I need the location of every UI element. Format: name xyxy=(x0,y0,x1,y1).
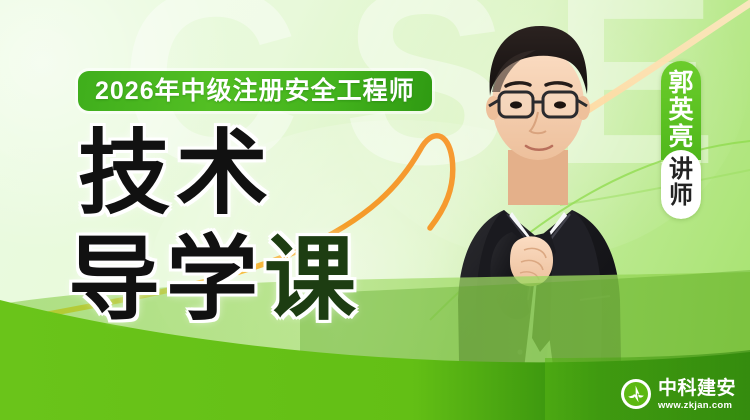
instructor-name: 郭 英 亮 xyxy=(661,61,701,160)
instructor-name-char-1: 郭 xyxy=(668,70,693,97)
headline: 技术 导学课 xyxy=(68,128,428,326)
headline-line-2: 导学课 xyxy=(68,234,428,326)
brand-name: 中科建安 xyxy=(658,379,736,398)
instructor-role-char-2: 师 xyxy=(669,183,693,209)
course-title-badge[interactable]: 2026年中级注册安全工程师 xyxy=(78,71,432,111)
headline-line-1: 技术 xyxy=(78,128,428,220)
brand-logo[interactable]: 中科建安 www.zkjan.com xyxy=(621,379,736,411)
headline-line-2-accent: 课 xyxy=(264,229,362,331)
brand-url: www.zkjan.com xyxy=(658,401,736,411)
course-title-badge-label: 2026年中级注册安全工程师 xyxy=(95,79,415,104)
instructor-name-badge[interactable]: 郭 英 亮 讲 师 xyxy=(661,61,701,219)
instructor-role-char-1: 讲 xyxy=(669,157,693,183)
course-promo-banner: CSE xyxy=(0,0,750,420)
headline-line-2-text: 导学 xyxy=(68,229,264,331)
instructor-name-char-3: 亮 xyxy=(668,124,693,151)
instructor-name-char-2: 英 xyxy=(668,97,693,124)
mountain-arrow-logo-icon xyxy=(621,379,651,409)
brand-logo-text: 中科建安 www.zkjan.com xyxy=(658,379,736,411)
instructor-role: 讲 师 xyxy=(661,150,701,219)
headline-line-1-text: 技术 xyxy=(78,123,274,225)
